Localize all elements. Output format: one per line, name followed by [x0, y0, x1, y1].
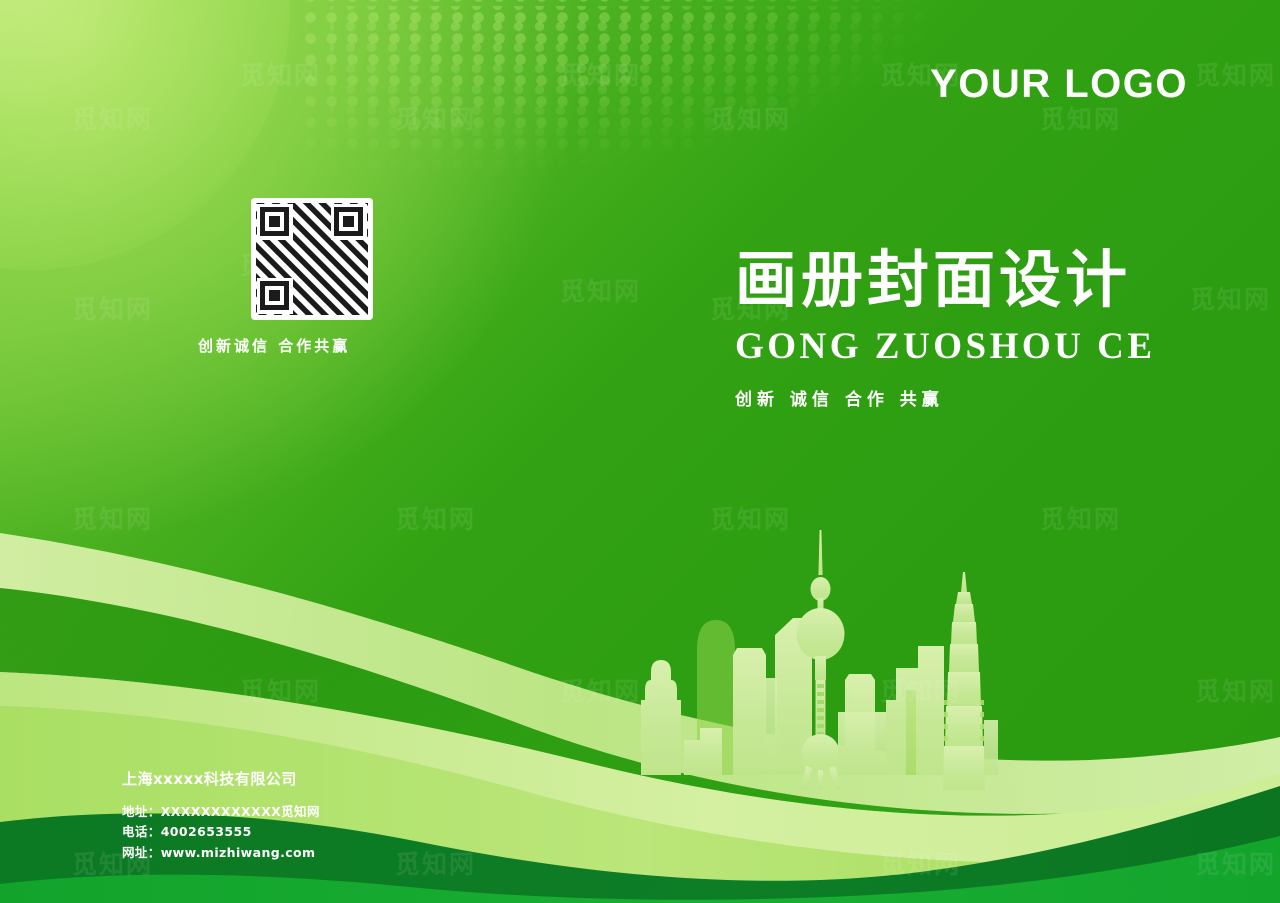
building-step-small [684, 728, 722, 775]
building-rounded-left [641, 660, 681, 775]
contact-website[interactable]: 网址：www.mizhiwang.com [122, 843, 320, 863]
qr-caption: 创新诚信 合作共赢 [198, 335, 320, 356]
building-riser-right [906, 690, 916, 775]
building-slab-notched [733, 648, 766, 775]
qr-code-icon[interactable] [251, 198, 373, 320]
qr-block: 创新诚信 合作共赢 [251, 198, 373, 356]
building-wide-low [838, 712, 886, 775]
contact-address: 地址：XXXXXXXXXXXX觅知网 [122, 802, 320, 822]
contact-block: 上海xxxxx科技有限公司 地址：XXXXXXXXXXXX觅知网 电话：4002… [122, 768, 320, 863]
poster-canvas: 觅知网觅知网觅知网觅知网觅知网觅知网觅知网觅知网觅知网觅知网觅知网觅知网觅知网觅… [0, 0, 1280, 903]
company-name: 上海xxxxx科技有限公司 [122, 768, 320, 789]
contact-phone: 电话：4002653555 [122, 822, 320, 842]
building-far-right [984, 720, 998, 775]
jin-mao-tower [943, 572, 985, 790]
headline-block: 画册封面设计 GONG ZUOSHOU CE 创新 诚信 合作 共赢 [735, 248, 1205, 410]
page-title: 画册封面设计 [735, 248, 1205, 315]
building-thin-left [765, 678, 777, 775]
logo-text: YOUR LOGO [930, 62, 1188, 107]
page-title-pinyin: GONG ZUOSHOU CE [735, 325, 1205, 368]
skyline-buildings-group [641, 530, 998, 790]
page-tagline: 创新 诚信 合作 共赢 [735, 385, 1205, 410]
